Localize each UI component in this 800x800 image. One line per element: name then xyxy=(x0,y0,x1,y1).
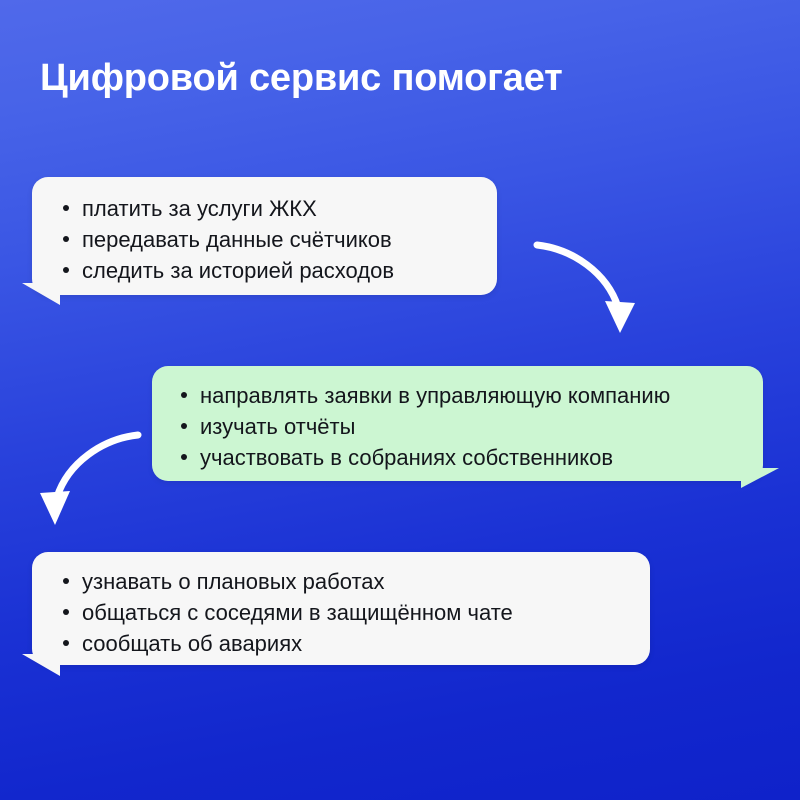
bullet-dot-icon xyxy=(63,609,69,615)
bullet-dot-icon xyxy=(63,578,69,584)
list-item-label: участвовать в собраниях собственников xyxy=(200,445,613,470)
bullet-dot-icon xyxy=(63,205,69,211)
list-item-label: платить за услуги ЖКХ xyxy=(82,196,317,221)
list-item-label: узнавать о плановых работах xyxy=(82,569,385,594)
list-item-label: направлять заявки в управляющую компанию xyxy=(200,383,670,408)
list-item-label: передавать данные счётчиков xyxy=(82,227,392,252)
bubble-1-list: платить за услуги ЖКХ передавать данные … xyxy=(62,193,497,286)
bullet-dot-icon xyxy=(63,236,69,242)
list-item-label: сообщать об авариях xyxy=(82,631,302,656)
list-item: участвовать в собраниях собственников xyxy=(180,442,763,473)
list-item: сообщать об авариях xyxy=(62,628,650,659)
list-item: общаться с соседями в защищённом чате xyxy=(62,597,650,628)
list-item: изучать отчёты xyxy=(180,411,763,442)
speech-bubble-3-tail xyxy=(22,654,60,676)
curved-arrow-down-right-icon xyxy=(515,225,645,350)
curved-arrow-down-left-icon xyxy=(30,415,160,540)
bubble-2-list: направлять заявки в управляющую компанию… xyxy=(180,380,763,473)
list-item: передавать данные счётчиков xyxy=(62,224,497,255)
bullet-dot-icon xyxy=(181,392,187,398)
slide-canvas: Цифровой сервис помогает платить за услу… xyxy=(0,0,800,800)
bullet-dot-icon xyxy=(63,640,69,646)
speech-bubble-1-tail xyxy=(22,283,60,305)
speech-bubble-3: узнавать о плановых работах общаться с с… xyxy=(32,552,650,665)
speech-bubble-2: направлять заявки в управляющую компанию… xyxy=(152,366,763,481)
bubble-3-list: узнавать о плановых работах общаться с с… xyxy=(62,566,650,659)
bullet-dot-icon xyxy=(63,267,69,273)
list-item-label: изучать отчёты xyxy=(200,414,355,439)
speech-bubble-1: платить за услуги ЖКХ передавать данные … xyxy=(32,177,497,295)
list-item: платить за услуги ЖКХ xyxy=(62,193,497,224)
bullet-dot-icon xyxy=(181,423,187,429)
list-item-label: общаться с соседями в защищённом чате xyxy=(82,600,513,625)
page-title: Цифровой сервис помогает xyxy=(40,58,563,100)
list-item-label: следить за историей расходов xyxy=(82,258,394,283)
list-item: следить за историей расходов xyxy=(62,255,497,286)
speech-bubble-2-tail xyxy=(741,468,779,488)
list-item: направлять заявки в управляющую компанию xyxy=(180,380,763,411)
bullet-dot-icon xyxy=(181,454,187,460)
list-item: узнавать о плановых работах xyxy=(62,566,650,597)
